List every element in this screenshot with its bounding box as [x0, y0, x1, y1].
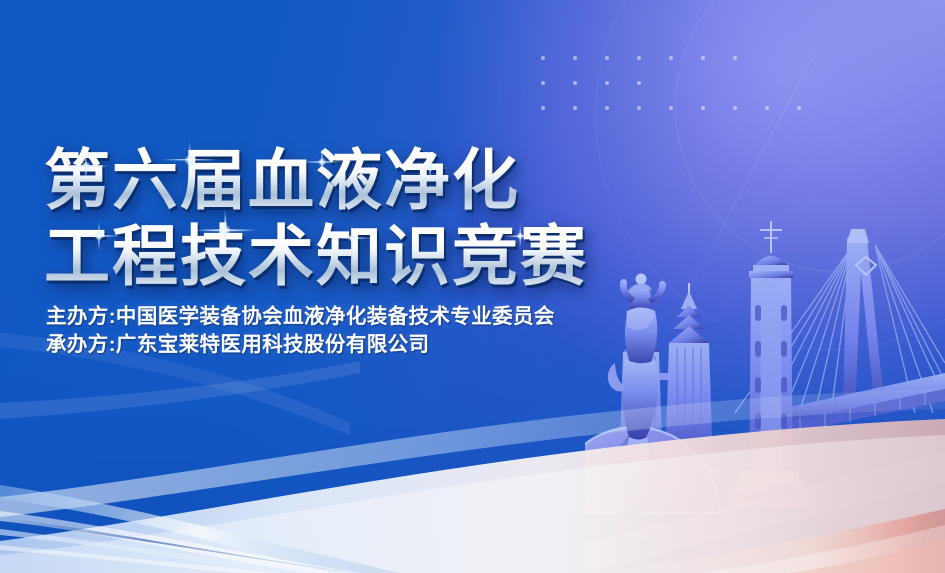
decorative-dot	[797, 106, 801, 110]
decorative-dot	[541, 56, 545, 60]
decorative-dot	[605, 106, 609, 110]
decorative-dot	[733, 56, 737, 60]
host-line: 承办方:广东宝莱特医用科技股份有限公司	[46, 331, 555, 359]
decorative-dot	[573, 56, 577, 60]
decorative-dot-row	[541, 56, 829, 81]
decorative-dot	[637, 106, 641, 110]
decorative-dot	[541, 81, 545, 85]
decorative-dot	[637, 81, 641, 85]
decorative-dot	[669, 56, 673, 60]
decorative-dot	[765, 106, 769, 110]
decorative-dot-row	[541, 106, 829, 131]
banner-title-line-1: 第六届血液净化	[44, 143, 588, 217]
decorative-dot	[701, 106, 705, 110]
decorative-dot	[733, 106, 737, 110]
decorative-dot	[541, 106, 545, 110]
decorative-dot	[573, 81, 577, 85]
decorative-dot	[669, 106, 673, 110]
banner-title-line-2: 工程技术知识竞赛	[44, 219, 588, 293]
decorative-dot	[573, 106, 577, 110]
event-banner: 第六届血液净化 工程技术知识竞赛 主办方:中国医学装备协会血液净化装备技术专业委…	[0, 0, 945, 573]
decorative-dot-row	[541, 81, 829, 106]
decorative-dot	[605, 81, 609, 85]
decorative-dot-grid	[541, 56, 829, 131]
title-block: 第六届血液净化 工程技术知识竞赛	[44, 143, 588, 293]
decorative-dot	[605, 56, 609, 60]
subtitle-block: 主办方:中国医学装备协会血液净化装备技术专业委员会 承办方:广东宝莱特医用科技股…	[46, 303, 555, 359]
decorative-dot	[701, 56, 705, 60]
decorative-dot	[637, 56, 641, 60]
organizer-line: 主办方:中国医学装备协会血液净化装备技术专业委员会	[46, 303, 555, 331]
